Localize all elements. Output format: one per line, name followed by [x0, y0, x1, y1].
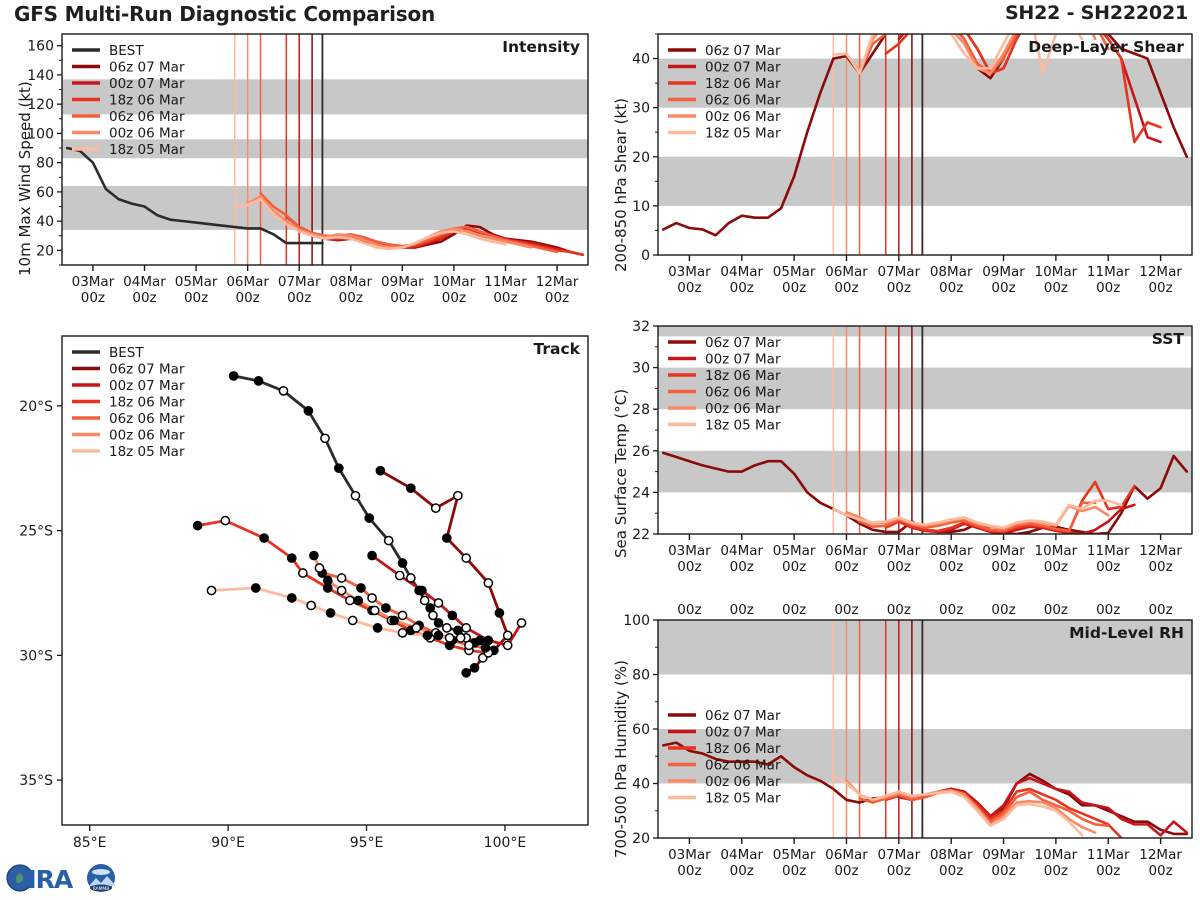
x-tick-label: 08Mar [930, 264, 973, 280]
x-tick-label: 95°E [350, 835, 384, 851]
y-tick-label: 30°S [19, 648, 53, 664]
track-marker-filled [462, 669, 470, 677]
x-tick-sublabel: 00z [677, 863, 701, 879]
x-tick-label: 05Mar [773, 543, 816, 559]
x-tick-label: 03Mar [668, 847, 711, 863]
x-tick-label: 10Mar [1035, 543, 1078, 559]
y-tick-label: 40 [36, 214, 54, 230]
x-tick-label: 09Mar [982, 847, 1025, 863]
intensity-band [658, 157, 1192, 206]
track-marker-filled [448, 611, 456, 619]
legend-label: 06z 07 Mar [109, 362, 185, 378]
legend-label: 18z 06 Mar [705, 368, 781, 384]
x-tick-sublabel: 00z [782, 559, 806, 575]
track-marker-filled [376, 467, 384, 475]
track-marker-open [315, 564, 323, 572]
x-tick-label: 07Mar [877, 264, 920, 280]
panel-title: Deep-Layer Shear [1028, 38, 1184, 56]
x-tick-label: 11Mar [484, 274, 527, 290]
x-tick-label: 12Mar [1139, 264, 1182, 280]
x-tick-label: 05Mar [773, 264, 816, 280]
x-top-label: 00z [782, 602, 806, 618]
panel-shear: 01020304003Mar00z04Mar00z05Mar00z06Mar00… [596, 28, 1200, 303]
y-tick-label: 80 [632, 668, 650, 684]
legend-label: 06z 06 Mar [705, 93, 781, 109]
track-marker-open [517, 619, 525, 627]
x-tick-sublabel: 00z [677, 280, 701, 296]
x-tick-label: 12Mar [1139, 543, 1182, 559]
track-marker-open [484, 579, 492, 587]
y-tick-label: 28 [632, 402, 650, 418]
svg-text:RAMMB: RAMMB [93, 886, 109, 892]
track-marker-filled [423, 631, 431, 639]
track-marker-filled [335, 464, 343, 472]
x-tick-label: 09Mar [982, 543, 1025, 559]
y-tick-label: 30 [632, 361, 650, 377]
x-tick-sublabel: 00z [782, 863, 806, 879]
x-top-label: 00z [1148, 602, 1172, 618]
x-tick-label: 07Mar [877, 847, 920, 863]
track-marker-filled [304, 407, 312, 415]
x-tick-label: 05Mar [773, 847, 816, 863]
track-marker-filled [476, 636, 484, 644]
x-tick-sublabel: 00z [390, 290, 414, 306]
x-tick-sublabel: 00z [545, 290, 569, 306]
y-axis-label: 700-500 hPa Humidity (%) [612, 660, 630, 858]
track-marker-open [368, 594, 376, 602]
x-tick-sublabel: 00z [939, 280, 963, 296]
x-tick-sublabel: 00z [442, 290, 466, 306]
legend-label: 00z 07 Mar [109, 378, 185, 394]
track-marker-open [421, 596, 429, 604]
x-tick-label: 05Mar [175, 274, 218, 290]
track-marker-open [346, 596, 354, 604]
x-tick-sublabel: 00z [1096, 863, 1120, 879]
track-marker-open [349, 616, 357, 624]
x-tick-label: 07Mar [278, 274, 321, 290]
track-marker-filled [495, 609, 503, 617]
x-tick-sublabel: 00z [834, 280, 858, 296]
track-marker-filled [230, 372, 238, 380]
legend-label: 00z 06 Mar [705, 774, 781, 790]
x-tick-label: 11Mar [1087, 847, 1130, 863]
x-tick-label: 03Mar [72, 274, 115, 290]
track-marker-open [504, 631, 512, 639]
y-tick-label: 10 [632, 199, 650, 215]
y-tick-label: 30 [632, 101, 650, 117]
track-marker-open [432, 504, 440, 512]
x-tick-sublabel: 00z [730, 559, 754, 575]
track-marker-filled [326, 609, 334, 617]
panel-title: SST [1152, 330, 1185, 348]
y-tick-label: 80 [36, 156, 54, 172]
y-tick-label: 20 [632, 150, 650, 166]
legend-label: 00z 07 Mar [109, 76, 185, 92]
legend-label: 06z 07 Mar [705, 708, 781, 724]
x-tick-sublabel: 00z [730, 280, 754, 296]
legend-label: 18z 06 Mar [705, 76, 781, 92]
track-marker-filled [288, 594, 296, 602]
page-title: GFS Multi-Run Diagnostic Comparison [14, 2, 435, 26]
x-tick-sublabel: 00z [339, 290, 363, 306]
track-marker-filled [470, 664, 478, 672]
x-tick-label: 100°E [484, 835, 527, 851]
x-tick-sublabel: 00z [991, 863, 1015, 879]
track-marker-open [396, 571, 404, 579]
x-top-label: 00z [1096, 602, 1120, 618]
y-tick-label: 0 [641, 248, 650, 264]
track-marker-filled [260, 534, 268, 542]
track-marker-filled [254, 377, 262, 385]
legend-label: BEST [109, 345, 144, 361]
legend-label: 00z 06 Mar [705, 109, 781, 125]
x-tick-sublabel: 00z [1096, 559, 1120, 575]
intensity-band [62, 186, 588, 230]
y-tick-label: 35°S [19, 773, 53, 789]
y-tick-label: 100 [623, 613, 650, 629]
storm-id-title: SH22 - SH222021 [1005, 2, 1188, 24]
panel-track: 20°S25°S30°S35°S85°E90°E95°E100°ETrackBE… [0, 330, 596, 865]
panel-title: Intensity [502, 38, 580, 56]
track-marker-open [279, 387, 287, 395]
x-tick-sublabel: 00z [184, 290, 208, 306]
panel-sst: 22242628303203Mar00z04Mar00z05Mar00z06Ma… [596, 320, 1200, 582]
x-tick-sublabel: 00z [493, 290, 517, 306]
track-marker-filled [324, 576, 332, 584]
track-marker-open [351, 492, 359, 500]
legend-label: 18z 05 Mar [109, 142, 185, 158]
track-marker-open [462, 554, 470, 562]
legend-label: 06z 07 Mar [705, 335, 781, 351]
track-marker-filled [288, 554, 296, 562]
x-top-label: 00z [887, 602, 911, 618]
panel-rh: 2040608010003Mar00z00z04Mar00z00z05Mar00… [596, 598, 1200, 888]
x-top-label: 00z [730, 602, 754, 618]
x-tick-sublabel: 00z [677, 559, 701, 575]
track-marker-open [454, 492, 462, 500]
x-tick-label: 85°E [73, 835, 107, 851]
track-marker-open [221, 517, 229, 525]
x-tick-sublabel: 00z [939, 559, 963, 575]
x-tick-label: 06Mar [825, 543, 868, 559]
legend-label: 06z 07 Mar [705, 43, 781, 59]
x-tick-label: 06Mar [825, 847, 868, 863]
track-marker-open [407, 574, 415, 582]
legend-label: 06z 06 Mar [705, 758, 781, 774]
x-tick-sublabel: 00z [1148, 559, 1172, 575]
cira-logo: CIRA RAMMB [4, 856, 122, 898]
x-tick-sublabel: 00z [1044, 863, 1068, 879]
track-marker-open [504, 641, 512, 649]
y-tick-label: 20 [632, 831, 650, 847]
track-marker-filled [252, 584, 260, 592]
track-marker-open [462, 624, 470, 632]
legend-label: 00z 06 Mar [109, 428, 185, 444]
track-marker-filled [443, 534, 451, 542]
x-tick-sublabel: 00z [991, 280, 1015, 296]
track-marker-filled [382, 604, 390, 612]
track-marker-open [385, 536, 393, 544]
track-marker-open [338, 574, 346, 582]
track-marker-open [299, 569, 307, 577]
track-marker-filled [418, 586, 426, 594]
x-top-label: 00z [834, 602, 858, 618]
x-tick-sublabel: 00z [132, 290, 156, 306]
diagnostic-page: GFS Multi-Run Diagnostic Comparison SH22… [0, 0, 1200, 900]
x-tick-label: 08Mar [329, 274, 372, 290]
track-marker-open [457, 634, 465, 642]
track-marker-filled [407, 484, 415, 492]
track-marker-open [429, 611, 437, 619]
x-tick-label: 04Mar [720, 847, 763, 863]
legend-label: 18z 05 Mar [109, 444, 185, 460]
x-tick-sublabel: 00z [236, 290, 260, 306]
x-top-label: 00z [1044, 602, 1068, 618]
x-tick-label: 06Mar [825, 264, 868, 280]
x-tick-sublabel: 00z [834, 863, 858, 879]
track-marker-filled [390, 616, 398, 624]
x-tick-label: 07Mar [877, 543, 920, 559]
y-axis-label: 200-850 hPa Shear (kt) [612, 98, 630, 272]
legend-label: 00z 06 Mar [109, 126, 185, 142]
legend-label: BEST [109, 43, 144, 59]
x-tick-sublabel: 00z [939, 863, 963, 879]
x-tick-label: 03Mar [668, 264, 711, 280]
legend-label: 00z 07 Mar [705, 725, 781, 741]
track-marker-filled [434, 619, 442, 627]
x-tick-label: 90°E [211, 835, 245, 851]
legend-label: 06z 06 Mar [109, 109, 185, 125]
legend-label: 06z 06 Mar [705, 385, 781, 401]
x-top-label: 00z [991, 602, 1015, 618]
x-tick-label: 10Mar [1035, 847, 1078, 863]
y-tick-label: 20 [36, 243, 54, 259]
panel-title: Track [534, 340, 581, 358]
track-marker-open [338, 586, 346, 594]
x-tick-label: 04Mar [123, 274, 166, 290]
x-tick-label: 06Mar [226, 274, 269, 290]
x-tick-sublabel: 00z [887, 863, 911, 879]
y-tick-label: 32 [632, 320, 650, 335]
track-marker-filled [310, 551, 318, 559]
track-marker-open [371, 606, 379, 614]
track-marker-filled [194, 522, 202, 530]
legend-label: 00z 07 Mar [705, 352, 781, 368]
x-tick-sublabel: 00z [1044, 559, 1068, 575]
legend-label: 18z 06 Mar [109, 395, 185, 411]
x-tick-sublabel: 00z [1148, 863, 1172, 879]
legend-label: 18z 06 Mar [705, 741, 781, 757]
track-marker-filled [398, 559, 406, 567]
x-tick-sublabel: 00z [1044, 280, 1068, 296]
y-tick-label: 25°S [19, 524, 53, 540]
x-tick-label: 08Mar [930, 543, 973, 559]
x-tick-sublabel: 00z [887, 280, 911, 296]
legend-label: 06z 06 Mar [109, 411, 185, 427]
x-tick-label: 04Mar [720, 264, 763, 280]
x-tick-sublabel: 00z [991, 559, 1015, 575]
panel-intensity: 2040608010012014016003Mar00z04Mar00z05Ma… [0, 28, 596, 313]
track-marker-filled [357, 584, 365, 592]
legend-label: 18z 05 Mar [705, 418, 781, 434]
legend-label: 00z 06 Mar [705, 401, 781, 417]
x-tick-label: 09Mar [381, 274, 424, 290]
track-marker-filled [481, 644, 489, 652]
x-tick-label: 11Mar [1087, 264, 1130, 280]
track-marker-open [465, 641, 473, 649]
y-tick-label: 40 [632, 777, 650, 793]
track-marker-open [412, 624, 420, 632]
panel-title: Mid-Level RH [1069, 624, 1184, 642]
track-marker-open [321, 434, 329, 442]
x-tick-sublabel: 00z [730, 863, 754, 879]
x-tick-label: 12Mar [536, 274, 579, 290]
y-axis-label: Sea Surface Temp (°C) [612, 389, 630, 558]
legend-label: 18z 06 Mar [109, 93, 185, 109]
y-tick-label: 24 [632, 485, 650, 501]
track-marker-open [207, 586, 215, 594]
x-tick-sublabel: 00z [1096, 280, 1120, 296]
legend-label: 18z 05 Mar [705, 126, 781, 142]
x-tick-label: 12Mar [1139, 847, 1182, 863]
x-top-label: 00z [939, 602, 963, 618]
track-marker-filled [354, 596, 362, 604]
x-tick-sublabel: 00z [287, 290, 311, 306]
x-tick-label: 09Mar [982, 264, 1025, 280]
track-marker-open [398, 611, 406, 619]
x-top-label: 00z [677, 602, 701, 618]
y-axis-label: 10m Max Wind Speed (kt) [16, 81, 34, 276]
x-tick-label: 04Mar [720, 543, 763, 559]
track-marker-open [443, 624, 451, 632]
x-tick-label: 08Mar [930, 847, 973, 863]
x-tick-label: 11Mar [1087, 543, 1130, 559]
x-tick-sublabel: 00z [81, 290, 105, 306]
y-tick-label: 60 [632, 722, 650, 738]
track-marker-filled [434, 631, 442, 639]
track-marker-filled [368, 551, 376, 559]
y-tick-label: 20°S [19, 399, 53, 415]
y-tick-label: 40 [632, 52, 650, 68]
track-marker-open [445, 634, 453, 642]
x-tick-sublabel: 00z [1148, 280, 1172, 296]
x-tick-label: 10Mar [433, 274, 476, 290]
x-tick-sublabel: 00z [887, 559, 911, 575]
track-marker-open [398, 629, 406, 637]
y-tick-label: 26 [632, 444, 650, 460]
y-tick-label: 60 [36, 185, 54, 201]
y-tick-label: 22 [632, 527, 650, 543]
track-marker-filled [374, 624, 382, 632]
track-marker-open [434, 599, 442, 607]
x-tick-label: 03Mar [668, 543, 711, 559]
legend-label: 00z 07 Mar [705, 60, 781, 76]
legend-label: 06z 07 Mar [109, 60, 185, 76]
x-tick-sublabel: 00z [834, 559, 858, 575]
svg-text:CIRA: CIRA [10, 865, 74, 894]
legend-label: 18z 05 Mar [705, 791, 781, 807]
x-tick-sublabel: 00z [782, 280, 806, 296]
track-marker-open [307, 601, 315, 609]
y-tick-label: 160 [27, 39, 54, 55]
x-tick-label: 10Mar [1035, 264, 1078, 280]
track-marker-filled [365, 514, 373, 522]
